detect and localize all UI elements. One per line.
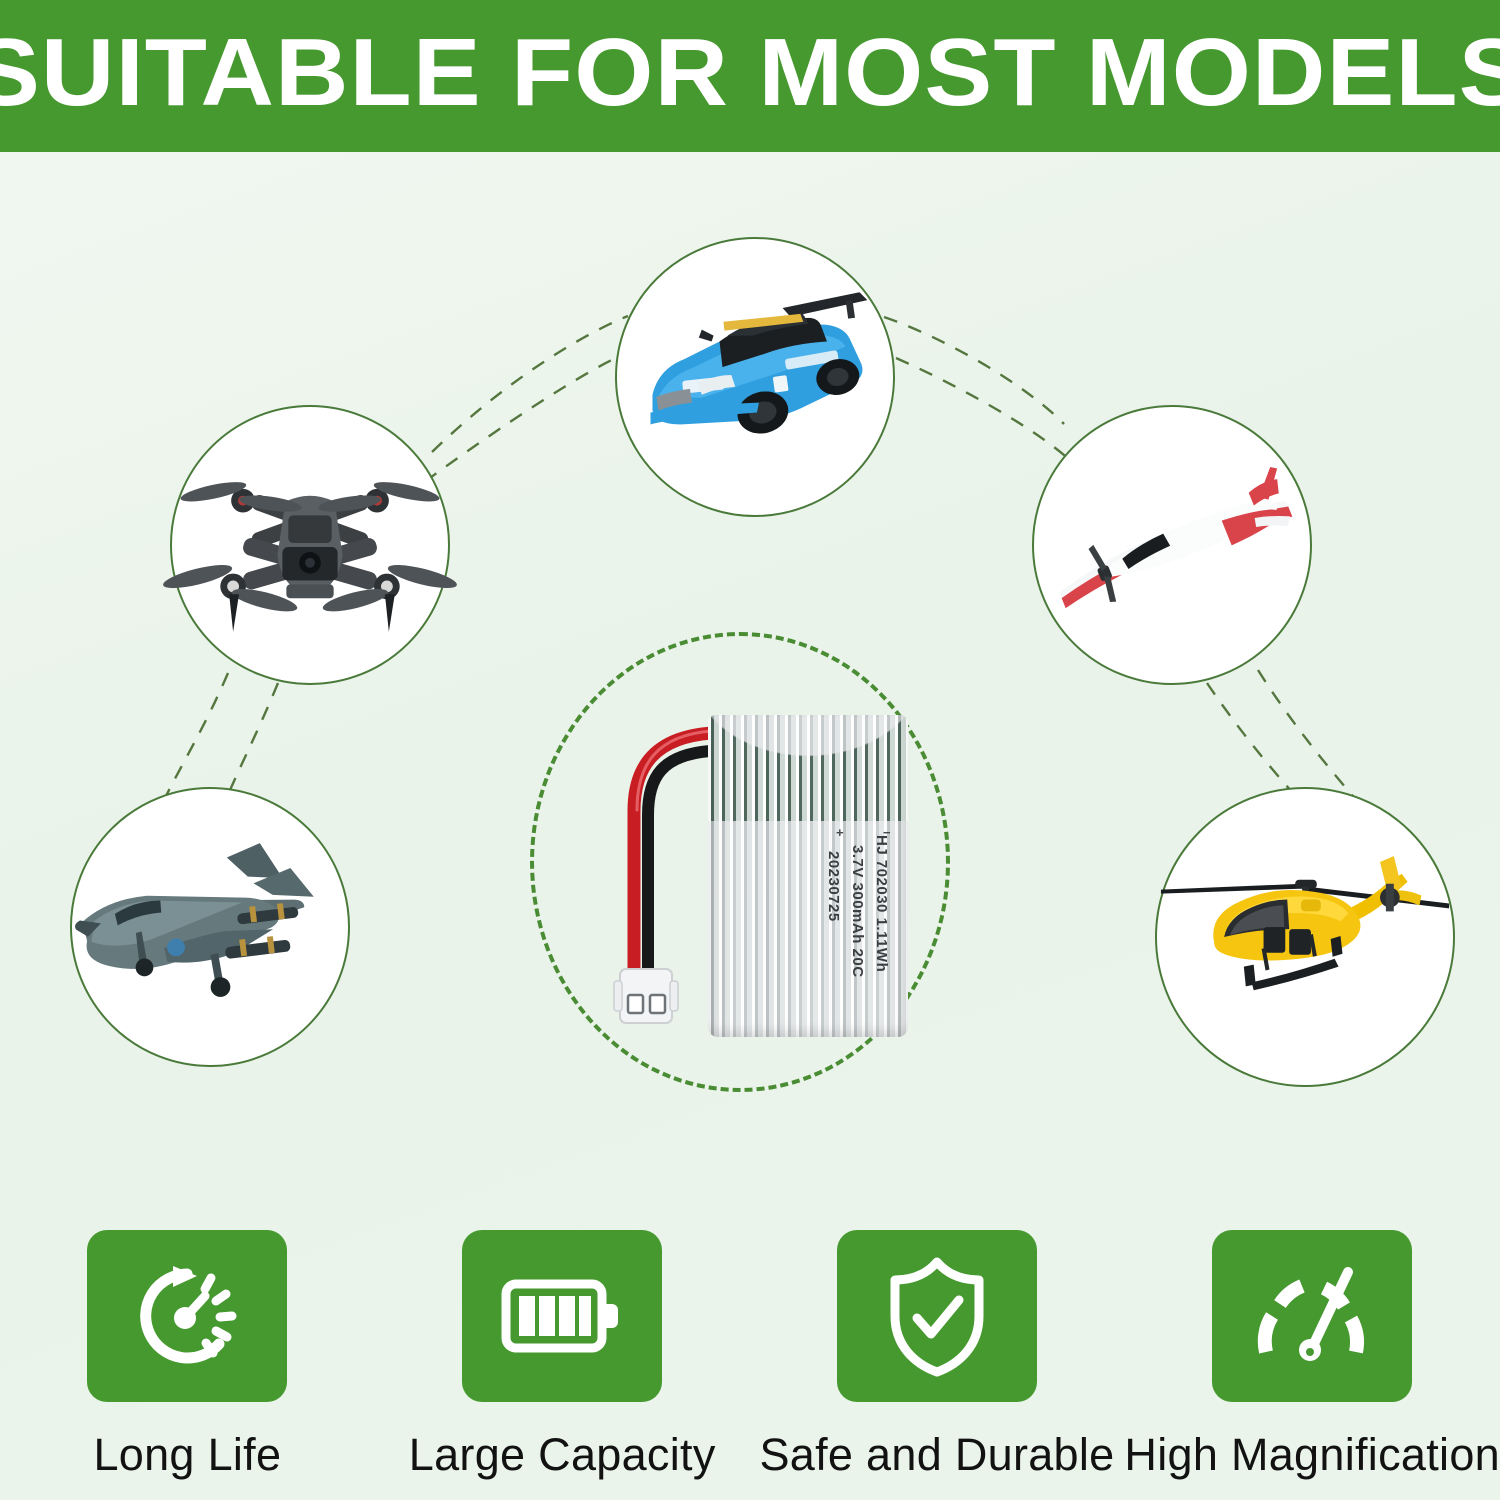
product-circle-car: [615, 237, 895, 517]
feature-icon-box: [1212, 1230, 1412, 1402]
feature-label: Long Life: [93, 1429, 281, 1481]
battery-full-icon: [500, 1264, 624, 1368]
feature-label: High Magnification: [1124, 1429, 1500, 1481]
product-circle-jet: [70, 787, 350, 1067]
feature-label: Large Capacity: [409, 1429, 716, 1481]
battery-plus-marking: +: [836, 825, 844, 840]
feature-icon-box: [837, 1230, 1037, 1402]
battery-illustration: + − HJ 702030 1.11Wh 3.7V 300mAh 20C 202…: [600, 707, 910, 1037]
feature-high-magnification: High Magnification: [1124, 1230, 1500, 1481]
page-title: SUITABLE FOR MOST MODELS: [0, 25, 1500, 127]
rc-plane-icon: [1034, 407, 1310, 683]
feature-icon-box: [87, 1230, 287, 1402]
feature-strip: Long Life Large Capacity Safe an: [0, 1230, 1500, 1500]
battery-label-line-2: 3.7V 300mAh 20C: [849, 845, 866, 978]
feature-long-life: Long Life: [0, 1230, 375, 1481]
header-banner: SUITABLE FOR MOST MODELS: [0, 0, 1500, 152]
product-circle-drone: [170, 405, 450, 685]
connector-drone-jet: [162, 673, 228, 804]
feature-label: Safe and Durable: [759, 1429, 1114, 1481]
battery-foil-seal: [708, 715, 908, 821]
battery-label-line-1: HJ 702030 1.11Wh: [873, 835, 890, 972]
timer-gauge-icon: [127, 1256, 247, 1376]
rc-helicopter-icon: [1157, 789, 1453, 1085]
model-compatibility-diagram: + − HJ 702030 1.11Wh 3.7V 300mAh 20C 202…: [0, 152, 1500, 1222]
feature-icon-box: [462, 1230, 662, 1402]
feature-large-capacity: Large Capacity: [375, 1230, 750, 1481]
fighter-jet-icon: [72, 789, 348, 1065]
product-circle-helicopter: [1155, 787, 1455, 1087]
connector-plane-heli: [1258, 670, 1358, 802]
drone-icon: [172, 407, 448, 683]
speedometer-icon: [1250, 1260, 1374, 1372]
product-circle-plane: [1032, 405, 1312, 685]
rc-car-icon: [617, 239, 893, 515]
battery-label-line-3: 20230725: [825, 851, 842, 922]
feature-safe-durable: Safe and Durable: [750, 1230, 1125, 1481]
shield-check-icon: [881, 1254, 993, 1378]
connector-drone-car: [432, 316, 628, 452]
